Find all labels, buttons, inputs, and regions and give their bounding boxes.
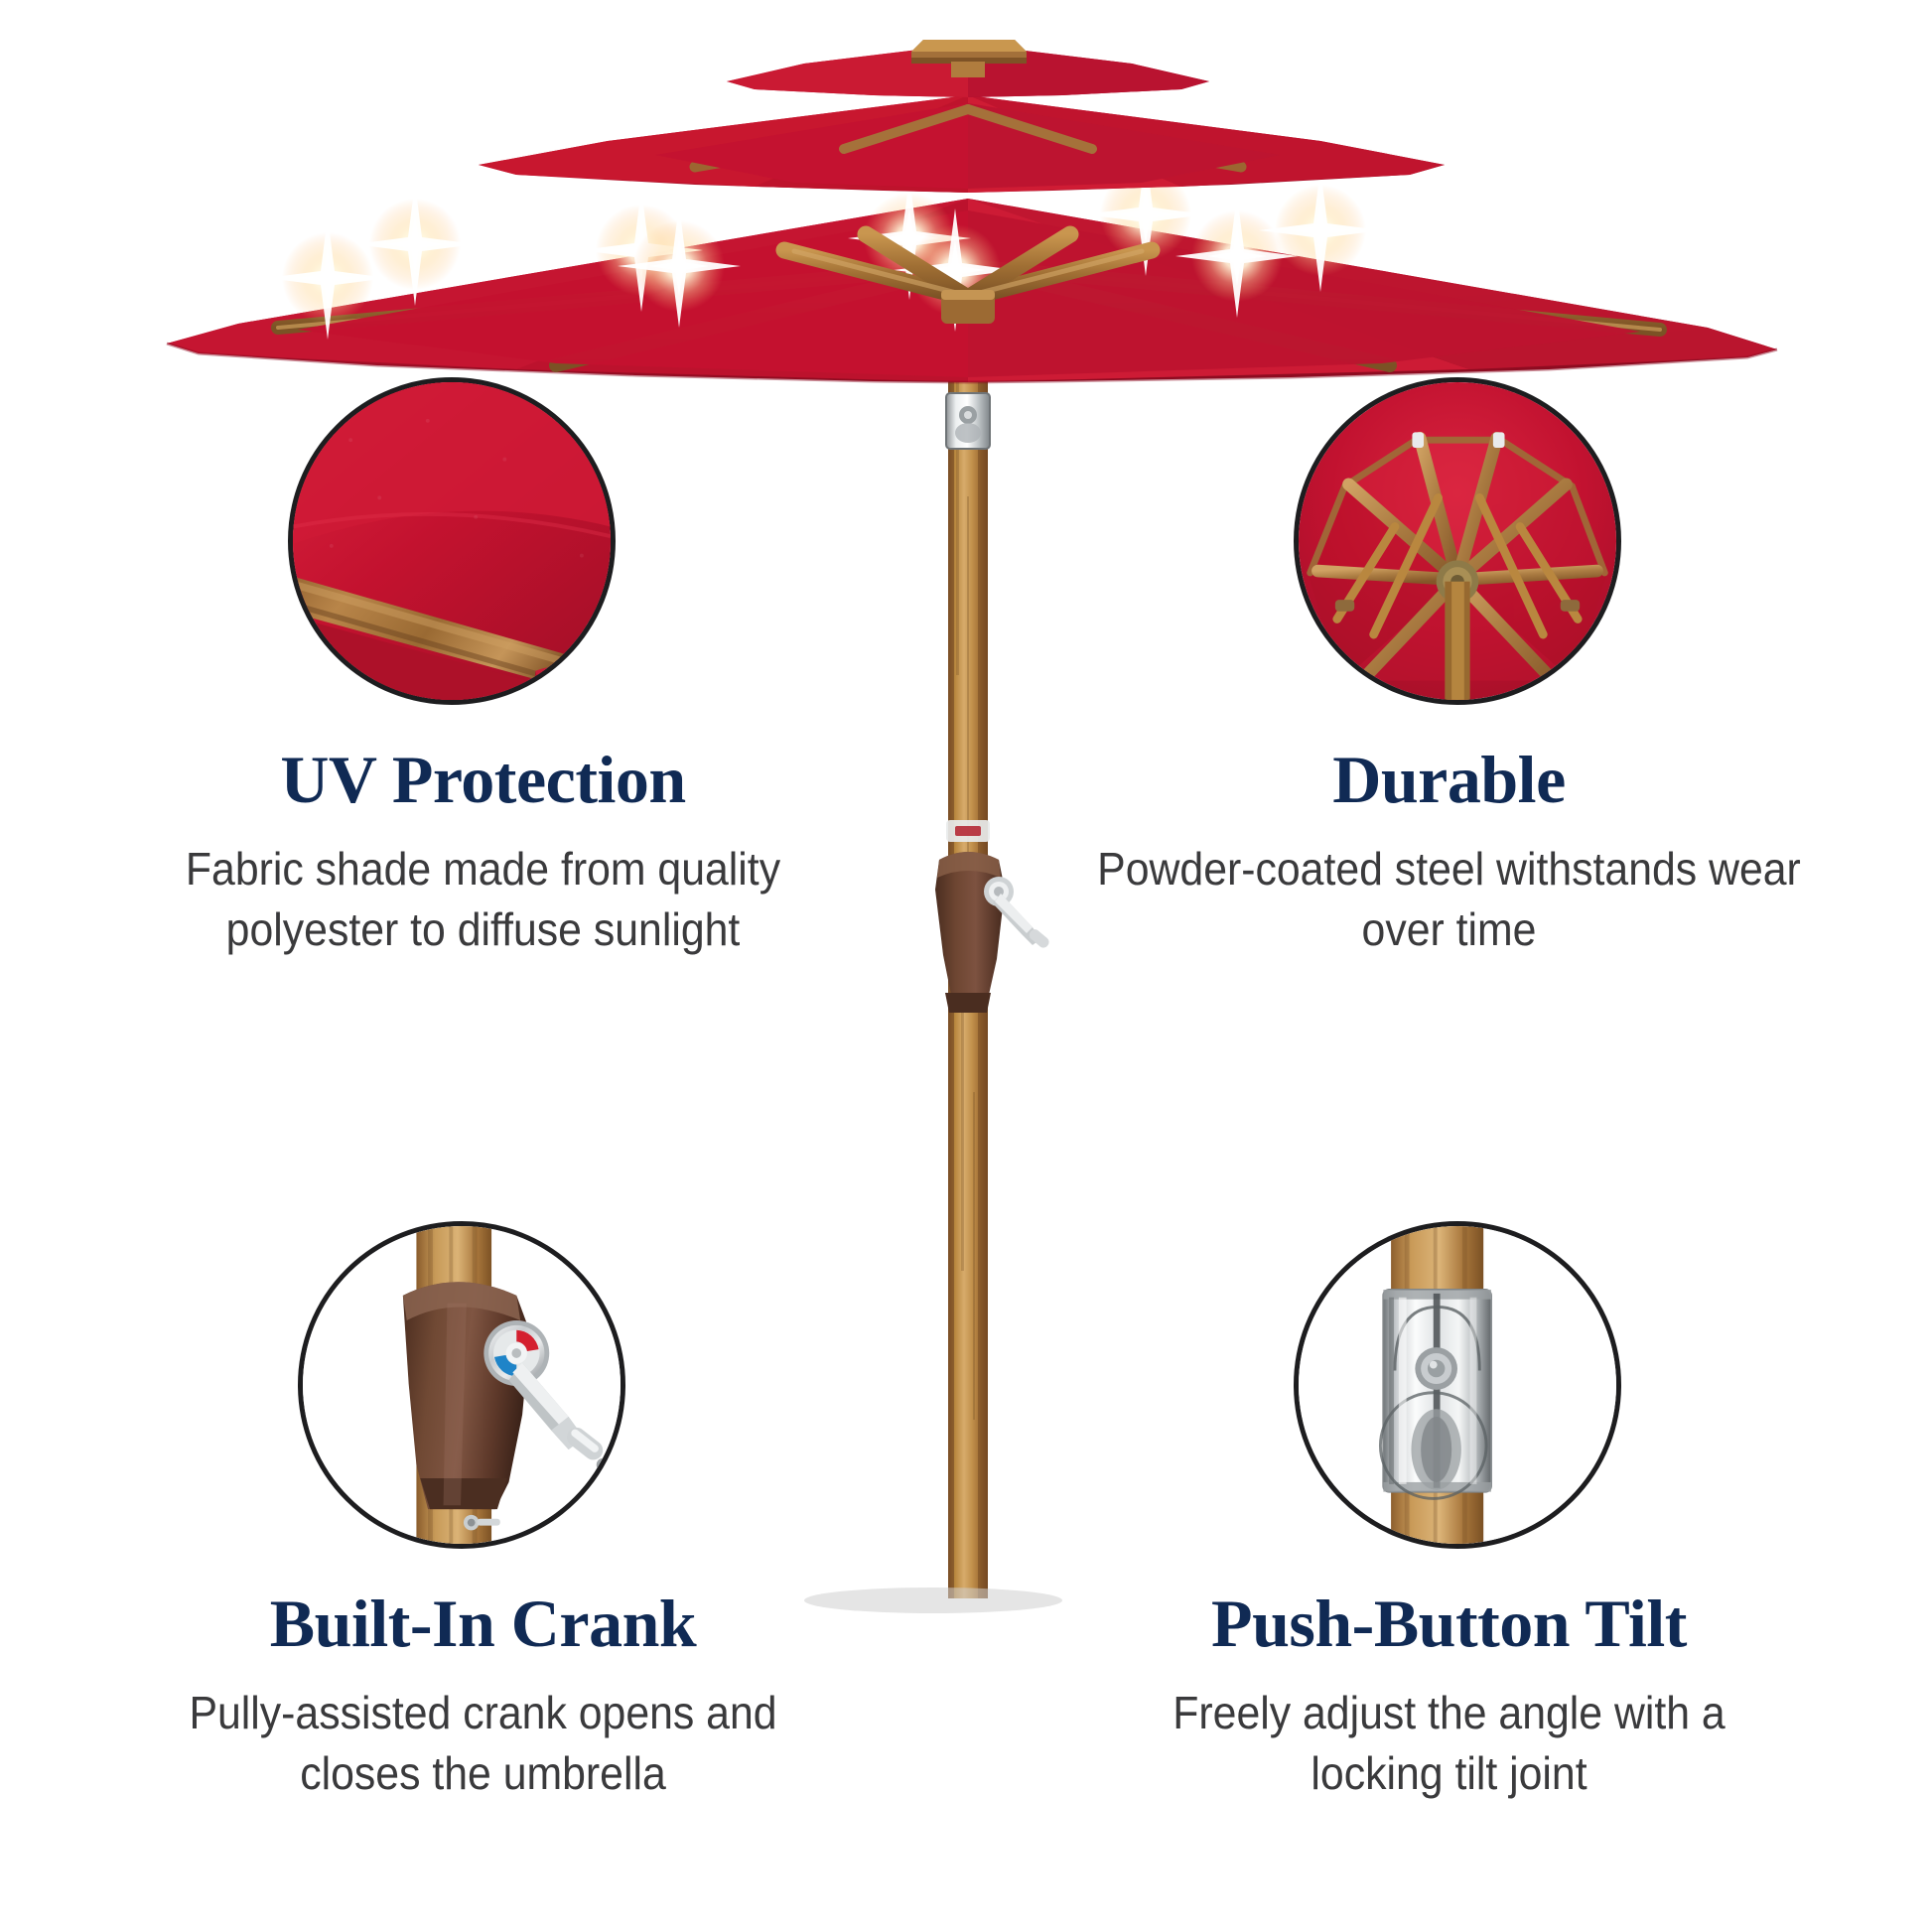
- feature-built-in-crank: Built-In Crank Pully-assisted crank open…: [0, 1221, 966, 1804]
- push-button: [1415, 1347, 1457, 1390]
- infographic-canvas: UV Protection Fabric shade made from qua…: [0, 0, 1932, 1932]
- feature-grid: UV Protection Fabric shade made from qua…: [0, 0, 1932, 1932]
- feature-uv-protection: UV Protection Fabric shade made from qua…: [0, 377, 966, 960]
- detail-circle-wrap-tilt: [1294, 1221, 1621, 1549]
- feature-title-push-button-tilt: Push-Button Tilt: [966, 1588, 1932, 1659]
- feature-body-durable: Powder-coated steel withstands wear over…: [1000, 839, 1898, 959]
- tilt-joint-closeup-image: [1294, 1221, 1621, 1549]
- umbrella-underside-image: [1294, 377, 1621, 705]
- feature-push-button-tilt: Push-Button Tilt Freely adjust the angle…: [966, 1221, 1932, 1804]
- detail-circle-wrap-durable: [1294, 377, 1621, 705]
- feature-title-durable: Durable: [966, 745, 1932, 815]
- detail-circle-wrap-crank: [298, 1221, 625, 1549]
- feature-body-uv-protection: Fabric shade made from quality polyester…: [34, 839, 932, 959]
- feature-durable: Durable Powder-coated steel withstands w…: [966, 377, 1932, 960]
- crank-handle-closeup-image: [298, 1221, 625, 1549]
- feature-title-uv-protection: UV Protection: [0, 745, 966, 815]
- canopy-fabric-closeup-image: [288, 377, 616, 705]
- detail-circle-wrap-uv: [288, 377, 616, 705]
- feature-body-push-button-tilt: Freely adjust the angle with a locking t…: [1000, 1683, 1898, 1803]
- feature-body-built-in-crank: Pully-assisted crank opens and closes th…: [34, 1683, 932, 1803]
- feature-title-built-in-crank: Built-In Crank: [0, 1588, 966, 1659]
